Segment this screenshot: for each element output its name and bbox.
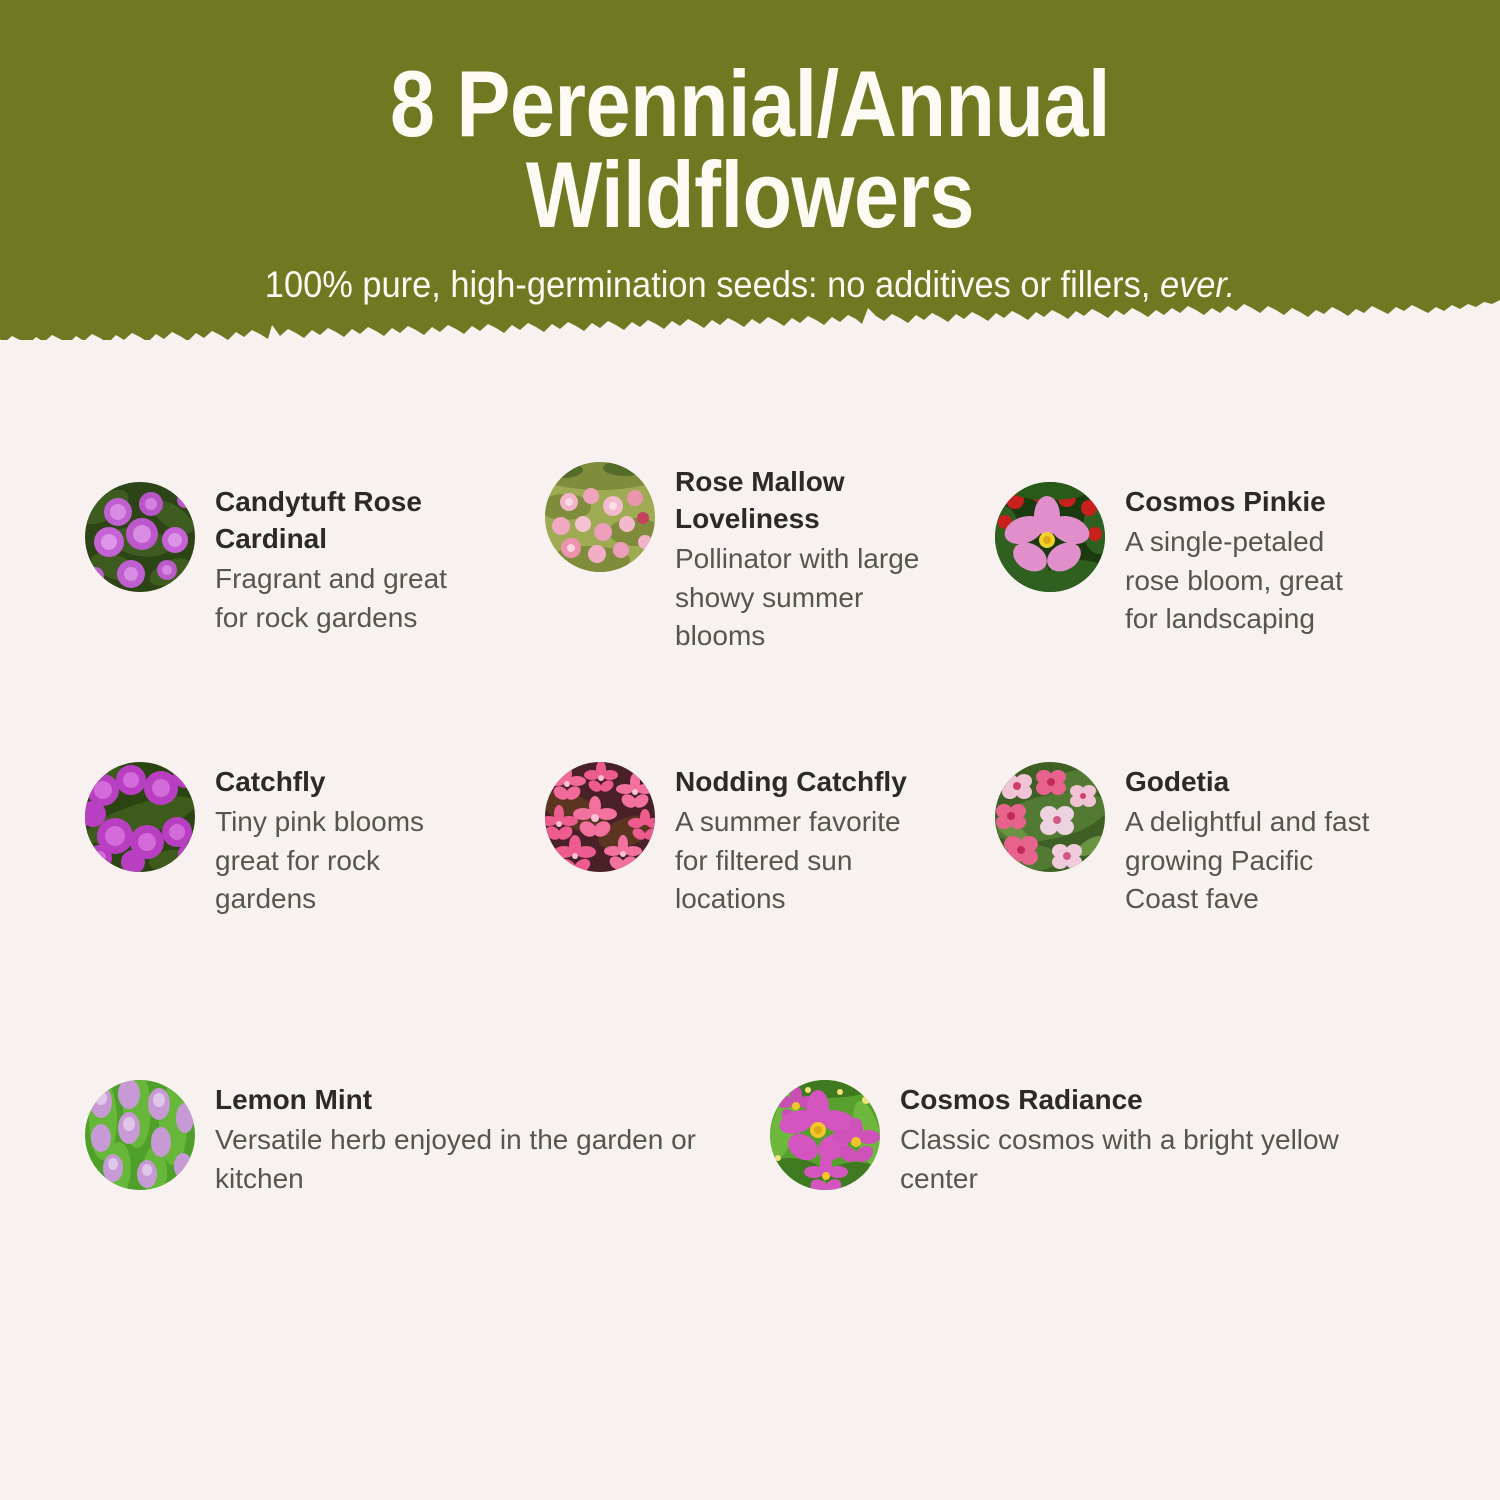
- torn-paper-edge: [0, 300, 1500, 360]
- flower-row-3: Lemon Mint Versatile herb enjoyed in the…: [0, 1080, 1500, 1280]
- flower-description: A delightful and fast growing Pacific Co…: [1125, 803, 1380, 919]
- godetia-photo: [995, 762, 1105, 872]
- header-content: 8 Perennial/Annual Wildflowers 100% pure…: [0, 0, 1500, 306]
- catchfly-photo: [85, 762, 195, 872]
- flower-name: Catchfly: [215, 764, 460, 801]
- flower-name: Nodding Catchfly: [675, 764, 920, 801]
- flower-item-nodding-catchfly[interactable]: Nodding Catchfly A summer favorite for f…: [460, 740, 920, 1080]
- flower-name: Lemon Mint: [215, 1082, 700, 1119]
- flower-row-2: Catchfly Tiny pink blooms great for rock…: [0, 740, 1500, 1080]
- flower-item-cosmos-pinkie[interactable]: Cosmos Pinkie A single-petaled rose bloo…: [920, 400, 1380, 740]
- flower-name: Cosmos Radiance: [900, 1082, 1400, 1119]
- flower-description: A summer favorite for filtered sun locat…: [675, 803, 920, 919]
- page-subtitle: 100% pure, high-germination seeds: no ad…: [53, 240, 1448, 306]
- flower-name: Rose Mallow Loveliness: [675, 464, 920, 538]
- candytuft-rose-cardinal-photo: [85, 482, 195, 592]
- flower-description: Versatile herb enjoyed in the garden or …: [215, 1121, 700, 1198]
- cosmos-pinkie-photo: [995, 482, 1105, 592]
- flower-text-block: Catchfly Tiny pink blooms great for rock…: [195, 762, 460, 919]
- flower-description: Tiny pink blooms great for rock gardens: [215, 803, 460, 919]
- flower-text-block: Lemon Mint Versatile herb enjoyed in the…: [195, 1080, 700, 1198]
- flower-description: A single-petaled rose bloom, great for l…: [1125, 523, 1380, 639]
- flower-item-lemon-mint[interactable]: Lemon Mint Versatile herb enjoyed in the…: [0, 1080, 700, 1280]
- flower-item-cosmos-radiance[interactable]: Cosmos Radiance Classic cosmos with a br…: [700, 1080, 1400, 1280]
- flower-text-block: Cosmos Radiance Classic cosmos with a br…: [880, 1080, 1400, 1198]
- flower-item-catchfly[interactable]: Catchfly Tiny pink blooms great for rock…: [0, 740, 460, 1080]
- flower-name: Cosmos Pinkie: [1125, 484, 1380, 521]
- flower-text-block: Candytuft Rose Cardinal Fragrant and gre…: [195, 482, 460, 637]
- flower-text-block: Rose Mallow Loveliness Pollinator with l…: [655, 462, 920, 656]
- cosmos-radiance-photo: [770, 1080, 880, 1190]
- header-banner: 8 Perennial/Annual Wildflowers 100% pure…: [0, 0, 1500, 340]
- nodding-catchfly-photo: [545, 762, 655, 872]
- flower-grid: Candytuft Rose Cardinal Fragrant and gre…: [0, 400, 1500, 1280]
- flower-row-1: Candytuft Rose Cardinal Fragrant and gre…: [0, 400, 1500, 740]
- flower-item-candytuft-rose-cardinal[interactable]: Candytuft Rose Cardinal Fragrant and gre…: [0, 400, 460, 740]
- flower-description: Fragrant and great for rock gardens: [215, 560, 460, 637]
- flower-name: Candytuft Rose Cardinal: [215, 484, 460, 558]
- flower-description: Pollinator with large showy summer bloom…: [675, 540, 920, 656]
- page-title: 8 Perennial/Annual Wildflowers: [105, 0, 1395, 240]
- flower-text-block: Cosmos Pinkie A single-petaled rose bloo…: [1105, 482, 1380, 639]
- lemon-mint-photo: [85, 1080, 195, 1190]
- flower-text-block: Godetia A delightful and fast growing Pa…: [1105, 762, 1380, 919]
- rose-mallow-loveliness-photo: [545, 462, 655, 572]
- flower-item-rose-mallow-loveliness[interactable]: Rose Mallow Loveliness Pollinator with l…: [460, 400, 920, 740]
- flower-name: Godetia: [1125, 764, 1380, 801]
- flower-item-godetia[interactable]: Godetia A delightful and fast growing Pa…: [920, 740, 1380, 1080]
- flower-text-block: Nodding Catchfly A summer favorite for f…: [655, 762, 920, 919]
- flower-description: Classic cosmos with a bright yellow cent…: [900, 1121, 1400, 1198]
